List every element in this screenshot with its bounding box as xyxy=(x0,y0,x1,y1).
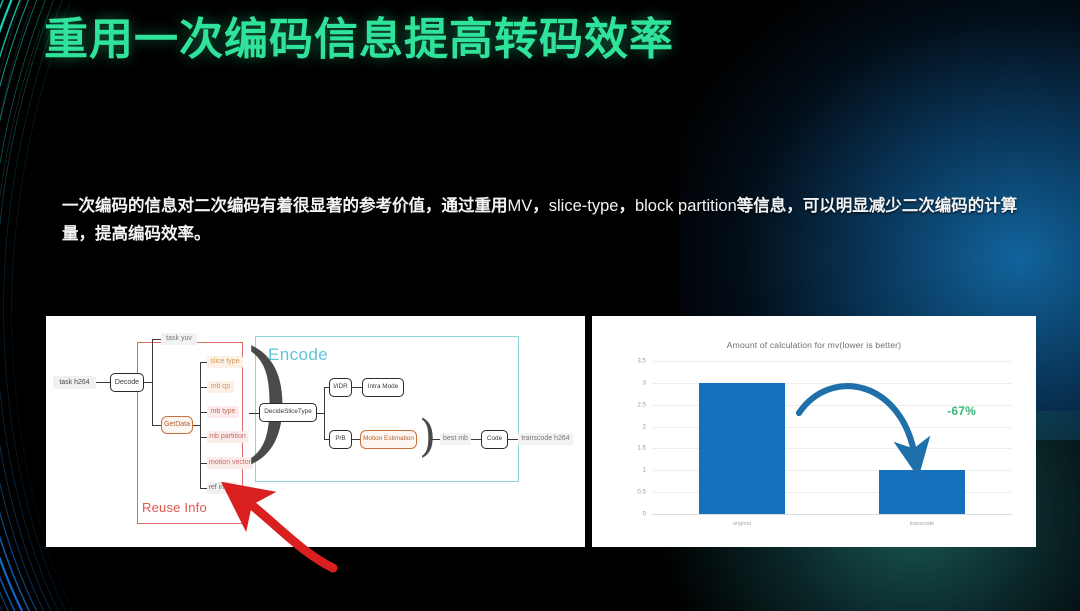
connector-reuse-3 xyxy=(200,437,207,438)
node-motion-estimation: Motion Estimation xyxy=(360,430,417,449)
reuse-item-slice-type: slice type xyxy=(207,356,243,368)
slide-title: 重用一次编码信息提高转码效率 xyxy=(44,14,674,67)
gridline-baseline: 0 xyxy=(652,514,1012,515)
node-p-b: P/B xyxy=(329,430,352,449)
node-transcode-h264: transcode h264 xyxy=(518,433,573,445)
y-tick-label: 3.5 xyxy=(637,358,646,365)
y-tick-label: 3 xyxy=(643,379,646,386)
body-term-mv: MV xyxy=(508,197,533,215)
connector-reuse-1 xyxy=(200,387,207,388)
body-segment-3: ， xyxy=(618,197,635,215)
reuse-info-label: Reuse Info xyxy=(142,500,207,515)
encode-merge-brace: ) xyxy=(419,420,436,454)
node-i-idr: I/IDR xyxy=(329,378,352,397)
reuse-item-ref-index: ref index xyxy=(207,482,237,494)
gridline: 3.5 xyxy=(652,361,1012,362)
connector-brace-encode xyxy=(249,413,259,414)
connector-getdata-in xyxy=(152,425,161,426)
chart-title: Amount of calculation for mv(lower is be… xyxy=(592,340,1036,350)
bar-original: original xyxy=(699,383,785,514)
y-tick-label: 2.5 xyxy=(637,401,646,408)
node-getdata: GetData xyxy=(161,416,193,434)
reuse-item-mb-type: mb type xyxy=(207,406,239,418)
node-code: Code xyxy=(481,430,508,449)
y-tick-label: 1 xyxy=(643,467,646,474)
y-tick-label: 0 xyxy=(643,511,646,518)
connector-dst-split xyxy=(324,387,325,439)
y-tick-label: 0.5 xyxy=(637,489,646,496)
connector-reuse-2 xyxy=(200,412,207,413)
node-best-mb: best mb xyxy=(440,433,471,445)
y-tick-label: 1.5 xyxy=(637,445,646,452)
node-task-yuv: task yuv xyxy=(161,333,197,345)
connector-brace-bestmb xyxy=(431,439,440,440)
reuse-to-encode-brace: ) xyxy=(242,344,293,456)
bar-transcode: transcode xyxy=(879,470,965,514)
connector-taskyuv xyxy=(152,339,161,340)
body-segment-2: ， xyxy=(532,197,549,215)
connector-reuse-spine xyxy=(200,362,201,488)
body-term-block-partition: block partition xyxy=(635,197,737,215)
x-tick-label: original xyxy=(733,521,751,527)
connector-getdata-out xyxy=(193,425,200,426)
connector-pb-me xyxy=(352,439,360,440)
slide-body-text: 一次编码的信息对二次编码有着很显著的参考价值，通过重用MV，slice-type… xyxy=(62,192,1030,249)
chart-panel: Amount of calculation for mv(lower is be… xyxy=(592,316,1036,547)
connector-iidr-intra xyxy=(352,387,362,388)
connector-decode-out xyxy=(144,382,152,383)
y-tick-label: 2 xyxy=(643,423,646,430)
chart-plot-area: 3.5 3 2.5 2 1.5 1 0.5 0 xyxy=(652,361,1012,514)
slide-canvas: 重用一次编码信息提高转码效率 一次编码的信息对二次编码有着很显著的参考价值，通过… xyxy=(0,0,1080,611)
node-decide-slice-type: DecideSliceType xyxy=(259,403,317,422)
connector-bestmb-code xyxy=(471,439,481,440)
x-tick-label: transcode xyxy=(910,521,935,527)
reuse-item-mb-qp: mb qp xyxy=(207,381,234,393)
connector-reuse-0 xyxy=(200,362,207,363)
body-segment-1: 一次编码的信息对二次编码有着很显著的参考价值，通过重用 xyxy=(62,197,508,215)
connector-code-out xyxy=(508,439,518,440)
body-term-slice-type: slice-type xyxy=(549,197,619,215)
connector-decode-split xyxy=(152,339,153,425)
connector-dst-out xyxy=(317,413,324,414)
node-intra-mode: Intra Mode xyxy=(362,378,404,397)
diagram-panel: Reuse Info Encode task h264 Decode task … xyxy=(46,316,585,547)
connector-reuse-4 xyxy=(200,463,207,464)
chart-delta-annotation: -67% xyxy=(947,404,976,418)
node-decode: Decode xyxy=(110,373,144,392)
connector-taskh264-decode xyxy=(96,382,110,383)
connector-reuse-5 xyxy=(200,488,207,489)
node-task-h264: task h264 xyxy=(53,376,96,389)
